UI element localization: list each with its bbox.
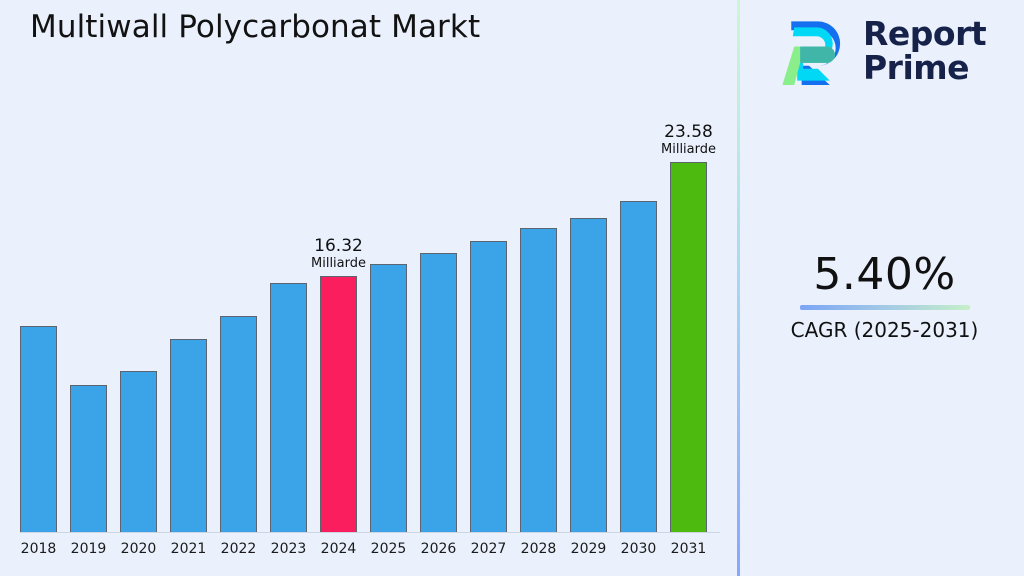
bar-rect-2029[interactable] <box>570 218 607 532</box>
x-tick-2029: 2029 <box>570 538 607 560</box>
bar-value-label-2024: 16.32Milliarde <box>311 236 366 272</box>
cagr-caption: CAGR (2025-2031) <box>745 317 1024 343</box>
bar-2026[interactable] <box>420 130 457 532</box>
x-tick-2030: 2030 <box>620 538 657 560</box>
bar-2023[interactable] <box>270 130 307 532</box>
bar-2025[interactable] <box>370 130 407 532</box>
x-axis-tick-labels: 2018201920202021202220232024202520262027… <box>20 538 720 564</box>
bar-chart: 16.32Milliarde23.58Milliarde 20182019202… <box>0 0 737 576</box>
x-tick-2018: 2018 <box>20 538 57 560</box>
x-tick-2023: 2023 <box>270 538 307 560</box>
bar-value-2031: 23.58 <box>661 122 716 142</box>
plot-area: 16.32Milliarde23.58Milliarde <box>20 130 720 532</box>
bar-rect-2025[interactable] <box>370 264 407 532</box>
bar-rect-2031[interactable] <box>670 162 707 532</box>
bar-rect-2022[interactable] <box>220 316 257 532</box>
bar-2018[interactable] <box>20 130 57 532</box>
bar-unit-2024: Milliarde <box>311 256 366 272</box>
bar-2022[interactable] <box>220 130 257 532</box>
bar-2030[interactable] <box>620 130 657 532</box>
bar-2024[interactable]: 16.32Milliarde <box>320 130 357 532</box>
bar-rect-2021[interactable] <box>170 339 207 532</box>
x-tick-2020: 2020 <box>120 538 157 560</box>
bar-rect-2018[interactable] <box>20 326 57 532</box>
bar-rect-2019[interactable] <box>70 385 107 532</box>
bar-2028[interactable] <box>520 130 557 532</box>
x-tick-2028: 2028 <box>520 538 557 560</box>
x-tick-2022: 2022 <box>220 538 257 560</box>
bar-2027[interactable] <box>470 130 507 532</box>
panel-divider <box>737 0 740 576</box>
cagr-value: 5.40% <box>745 250 1024 300</box>
brand-logo: Report Prime <box>775 8 1005 94</box>
bar-2020[interactable] <box>120 130 157 532</box>
x-tick-2025: 2025 <box>370 538 407 560</box>
bar-2019[interactable] <box>70 130 107 532</box>
bar-2029[interactable] <box>570 130 607 532</box>
bar-rect-2030[interactable] <box>620 201 657 532</box>
x-tick-2027: 2027 <box>470 538 507 560</box>
bar-rect-2026[interactable] <box>420 253 457 532</box>
cagr-divider-rule <box>800 305 970 310</box>
x-tick-2021: 2021 <box>170 538 207 560</box>
report-prime-logo-icon <box>775 14 849 88</box>
x-axis-baseline <box>20 532 720 533</box>
bar-rect-2023[interactable] <box>270 283 307 532</box>
x-tick-2031: 2031 <box>670 538 707 560</box>
bar-value-label-2031: 23.58Milliarde <box>661 122 716 158</box>
bar-rect-2028[interactable] <box>520 228 557 532</box>
bar-rect-2020[interactable] <box>120 371 157 532</box>
bar-unit-2031: Milliarde <box>661 142 716 158</box>
cagr-panel: 5.40% CAGR (2025-2031) <box>745 250 1024 343</box>
brand-name-line2: Prime <box>863 48 969 87</box>
bar-value-2024: 16.32 <box>311 236 366 256</box>
x-tick-2024: 2024 <box>320 538 357 560</box>
bar-2031[interactable]: 23.58Milliarde <box>670 130 707 532</box>
bar-rect-2027[interactable] <box>470 241 507 532</box>
bar-2021[interactable] <box>170 130 207 532</box>
brand-name: Report Prime <box>863 17 986 84</box>
x-tick-2026: 2026 <box>420 538 457 560</box>
bar-rect-2024[interactable] <box>320 276 357 532</box>
x-tick-2019: 2019 <box>70 538 107 560</box>
